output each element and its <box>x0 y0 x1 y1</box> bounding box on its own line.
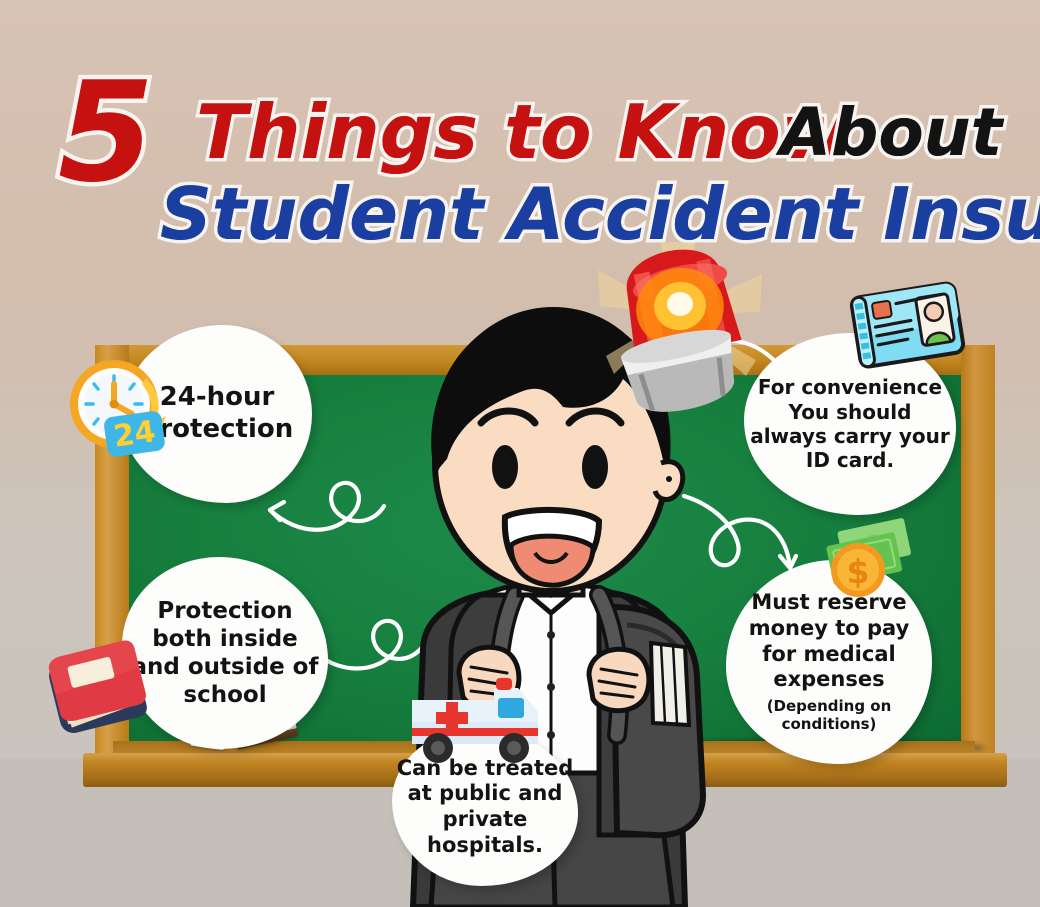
money-dollar-icon: $ <box>812 518 924 610</box>
bubble-line: hospitals. <box>397 833 574 859</box>
title-block: 5 5 Things to Know Things to Know About … <box>0 50 1040 250</box>
title-line1-black: About <box>780 94 1002 171</box>
infographic-canvas: 5 5 Things to Know Things to Know About … <box>0 0 1040 907</box>
id-card-icon <box>846 278 970 380</box>
title-number: 5 <box>58 52 152 213</box>
bubble-text: For convenience You should always carry … <box>750 375 950 473</box>
bubble-line: for medical <box>726 642 932 668</box>
bubble-line: Protection <box>132 597 319 625</box>
clock-24-icon: 24 <box>62 352 174 464</box>
bubble-line: both inside <box>132 625 319 653</box>
bubble-text: Must reserve money to pay for medical ex… <box>726 590 932 733</box>
title-line1-red: Things to Know <box>196 88 850 176</box>
bubble-line: always carry your <box>750 424 950 448</box>
bubble-line: money to pay <box>726 616 932 642</box>
svg-text:24: 24 <box>111 414 157 454</box>
bubble-line: ID card. <box>750 448 950 472</box>
bubble-line: private <box>397 807 574 833</box>
bubble-line: expenses <box>726 667 932 693</box>
bubble-line: You should <box>750 400 950 424</box>
bubble-line: school <box>132 681 319 709</box>
book-icon <box>40 638 158 746</box>
bubble-line: at public and <box>397 781 574 807</box>
bubble-subnote: (Depending on conditions) <box>726 697 932 734</box>
svg-text:$: $ <box>847 552 870 591</box>
bubble-text: Protection both inside and outside of sc… <box>132 597 319 709</box>
ambulance-icon <box>402 664 552 772</box>
chalkboard-frame-right <box>961 345 995 775</box>
bubble-line: and outside of <box>132 653 319 681</box>
